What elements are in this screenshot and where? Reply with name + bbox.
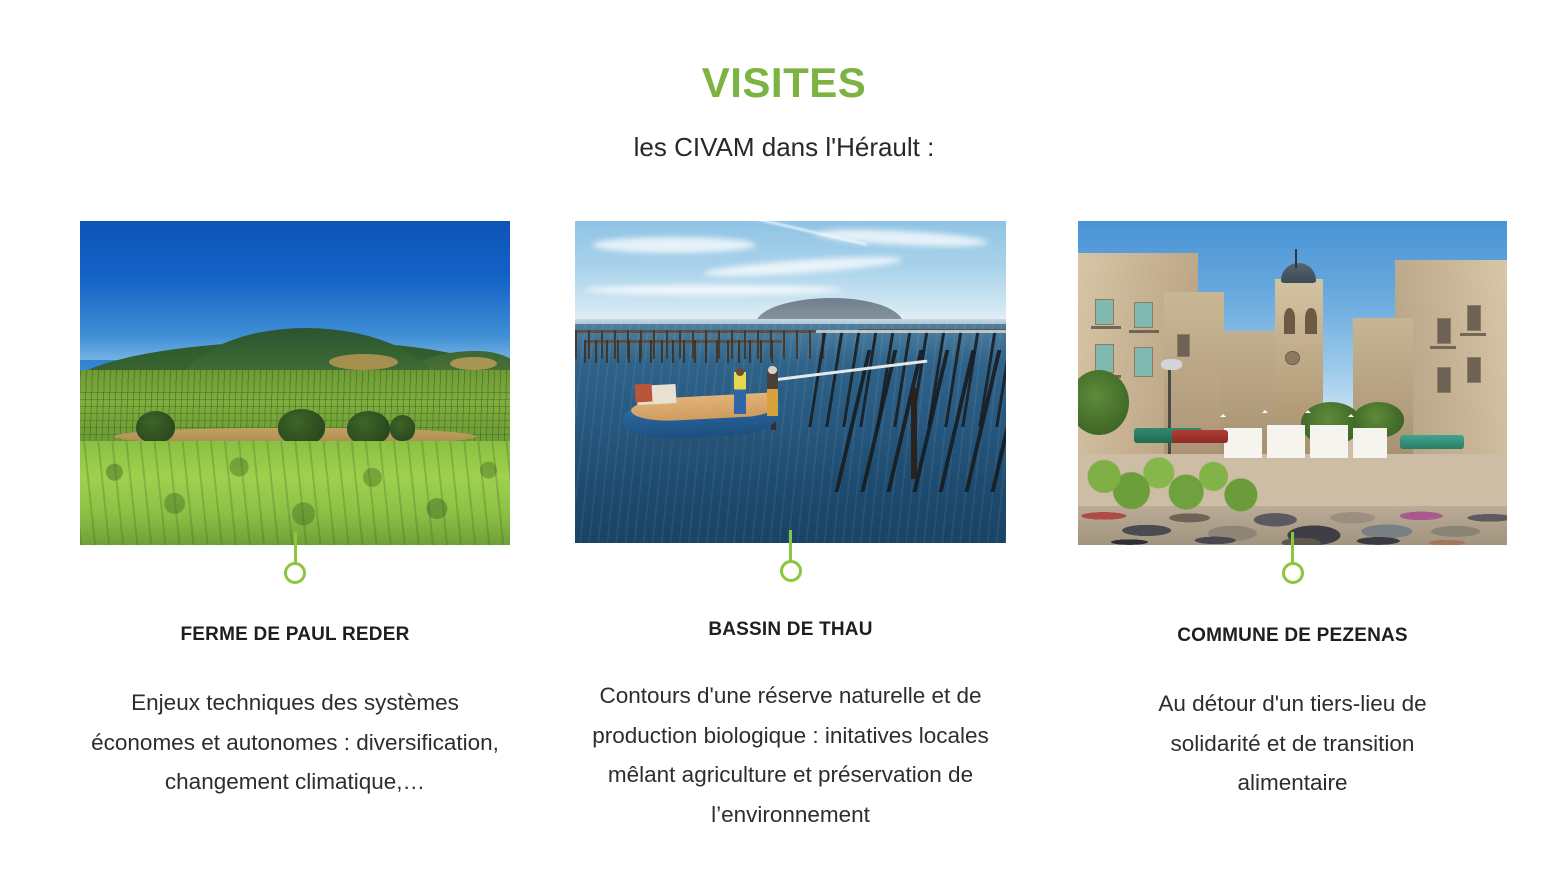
timeline-marker [1078, 545, 1507, 595]
card-body-text: Contours d'une réserve naturelle et de p… [575, 676, 1006, 835]
card-heading: COMMUNE DE PEZENAS [1078, 625, 1507, 648]
card-image-vineyard [80, 221, 510, 545]
card-image-market [1078, 221, 1507, 545]
card-image-lagoon [575, 221, 1006, 543]
card-commune-de-pezenas[interactable]: COMMUNE DE PEZENAS Au détour d'un tiers-… [1078, 221, 1507, 803]
timeline-marker [80, 545, 510, 595]
marker-circle-icon [1282, 562, 1304, 584]
header: VISITES les CIVAM dans l'Hérault : [0, 0, 1568, 160]
card-ferme-de-paul-reder[interactable]: FERME DE PAUL REDER Enjeux techniques de… [80, 221, 510, 802]
marker-circle-icon [284, 562, 306, 584]
page-subtitle: les CIVAM dans l'Hérault : [0, 104, 1568, 160]
page-title: VISITES [0, 0, 1568, 104]
card-heading: FERME DE PAUL REDER [80, 624, 510, 647]
card-body-text: Enjeux techniques des systèmes économes … [80, 683, 510, 802]
marker-stem-icon [789, 530, 792, 562]
timeline-marker [575, 543, 1006, 593]
marker-stem-icon [294, 532, 297, 564]
slide-root: VISITES les CIVAM dans l'Hérault : [0, 0, 1568, 882]
marker-circle-icon [780, 560, 802, 582]
marker-stem-icon [1291, 532, 1294, 564]
card-bassin-de-thau[interactable]: BASSIN DE THAU Contours d'une réserve na… [575, 221, 1006, 835]
card-heading: BASSIN DE THAU [575, 619, 1006, 642]
card-body-text: Au détour d'un tiers-lieu de solidarité … [1078, 684, 1507, 803]
